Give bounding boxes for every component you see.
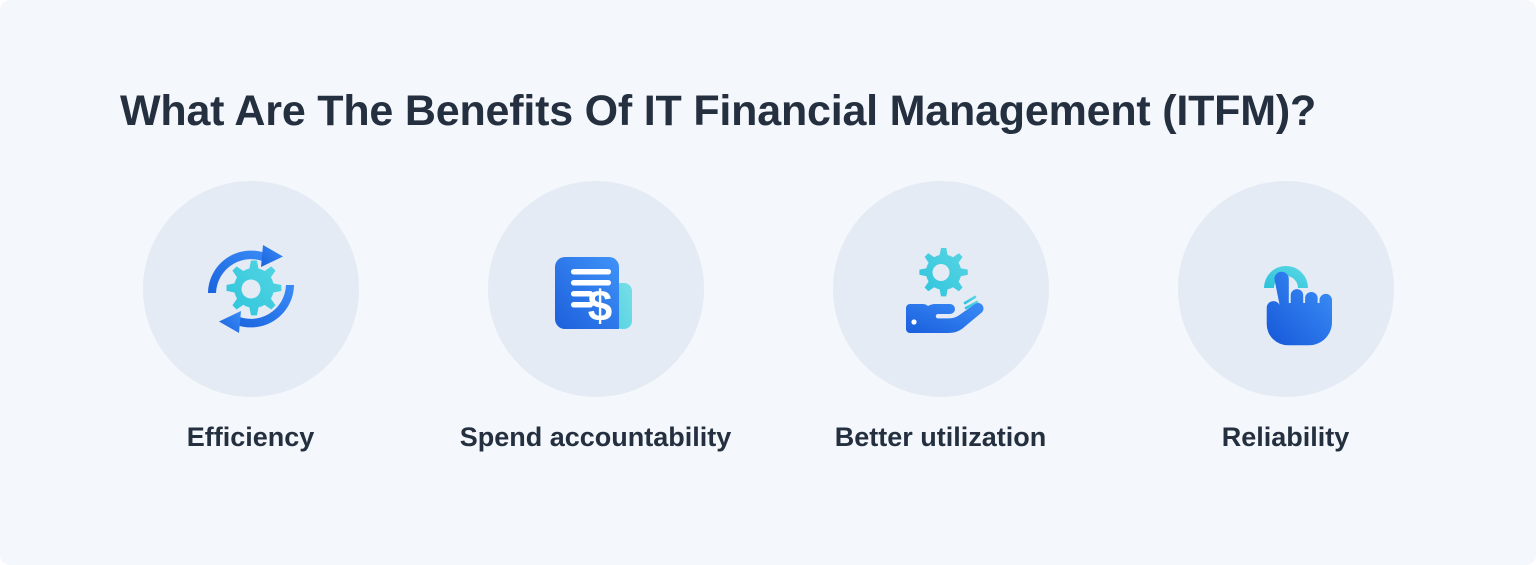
page-title: What Are The Benefits Of IT Financial Ma… [120,83,1420,139]
benefits-row: Efficiency [0,181,1536,455]
benefit-label: Spend accountability [460,419,732,455]
icon-circle: $ [488,181,704,397]
svg-text:$: $ [587,282,611,331]
benefit-card-better-utilization: Better utilization [768,181,1113,455]
hand-gear-icon [883,231,999,347]
tap-finger-icon [1228,231,1344,347]
benefit-card-spend-accountability: $ Spend accountability [423,181,768,455]
benefit-label: Reliability [1222,419,1350,455]
icon-circle [143,181,359,397]
benefit-card-efficiency: Efficiency [78,181,423,455]
icon-circle [1178,181,1394,397]
infographic-panel: What Are The Benefits Of IT Financial Ma… [0,0,1536,565]
gear-cycle-icon [193,231,309,347]
benefit-card-reliability: Reliability [1113,181,1458,455]
benefit-label: Efficiency [187,419,315,455]
icon-circle [833,181,1049,397]
benefit-label: Better utilization [835,419,1047,455]
invoice-dollar-icon: $ [538,231,654,347]
